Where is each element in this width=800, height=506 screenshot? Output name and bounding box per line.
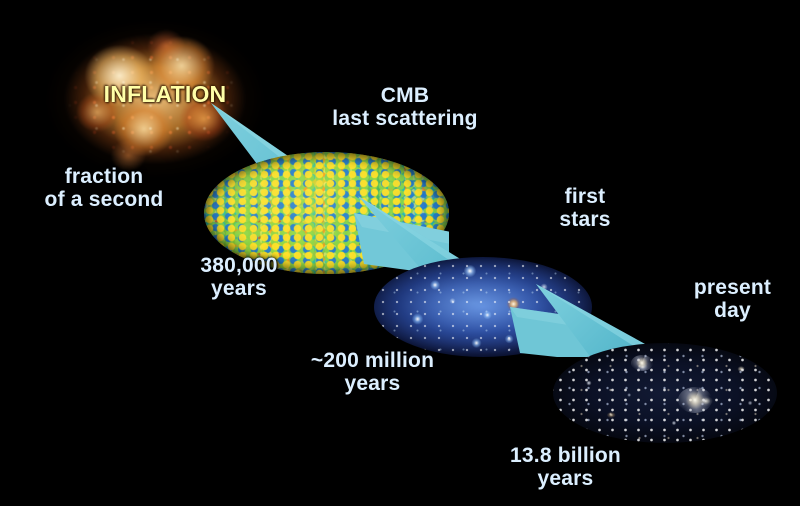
deep-field-speckle	[553, 343, 777, 443]
present-day-region	[553, 343, 777, 443]
spiral-galaxy-small	[631, 355, 653, 371]
cosmic-timeline-diagram: INFLATION fraction of a second CMB last	[0, 0, 800, 506]
spiral-galaxy-large	[678, 387, 712, 413]
deep-field-galaxies-image	[553, 343, 777, 443]
present-day-time-label: 13.8 billion years	[478, 445, 653, 490]
